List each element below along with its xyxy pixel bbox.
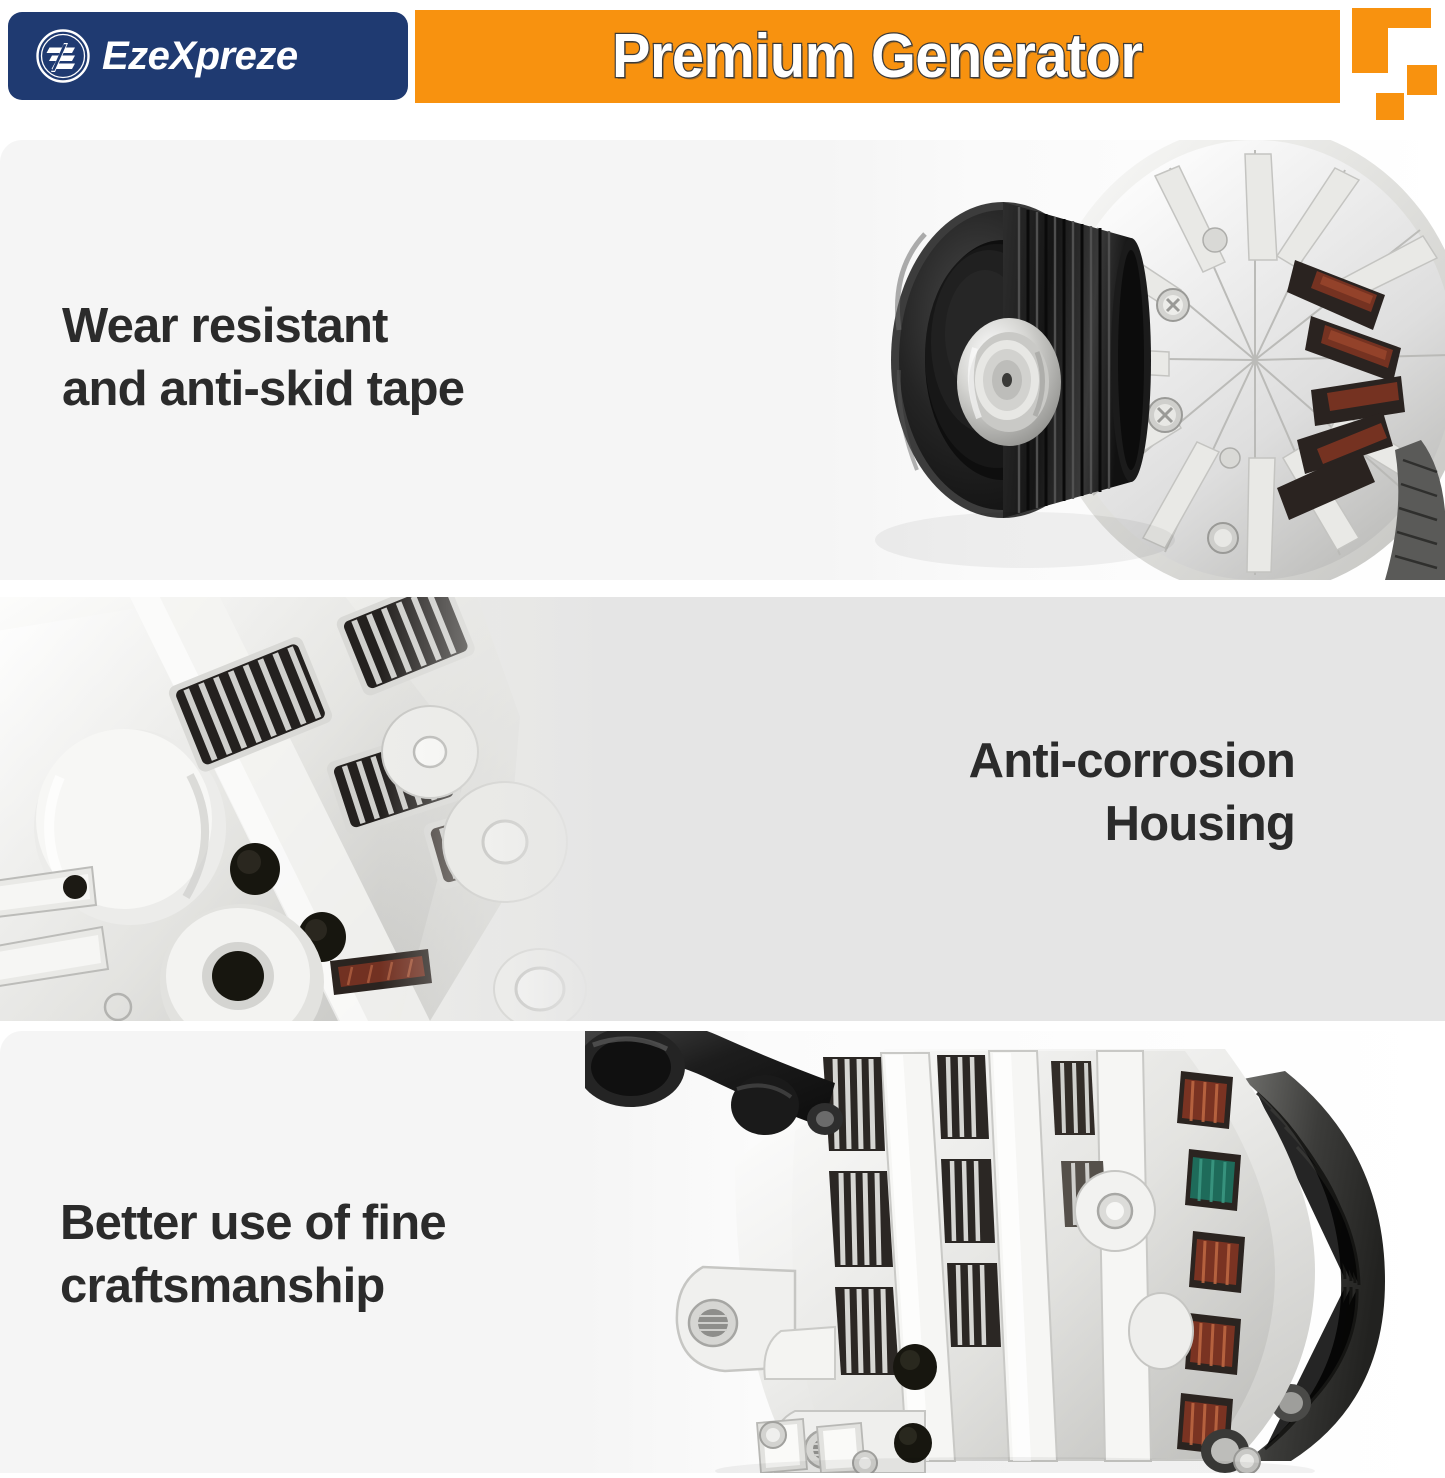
alternator-full-view-image [585, 1031, 1445, 1473]
feature-text-wear-resistant: Wear resistant and anti-skid tape [62, 295, 464, 420]
stepped-squares-decoration-icon [1352, 5, 1445, 120]
alternator-housing-closeup-image [0, 597, 600, 1021]
brand-logo-box: EzeXpreze [8, 12, 408, 100]
brand-name: EzeXpreze [102, 36, 298, 76]
title-banner: Premium Generator [415, 10, 1340, 103]
feature-text-anti-corrosion: Anti-corrosion Housing [969, 730, 1295, 855]
page-title: Premium Generator [612, 26, 1142, 88]
alternator-pulley-closeup-image [825, 140, 1445, 580]
ezexpreze-circle-bolt-logo-icon [34, 27, 92, 85]
page-header: EzeXpreze Premium Generator [0, 0, 1445, 118]
feature-text-craftsmanship: Better use of fine craftsmanship [60, 1192, 446, 1317]
